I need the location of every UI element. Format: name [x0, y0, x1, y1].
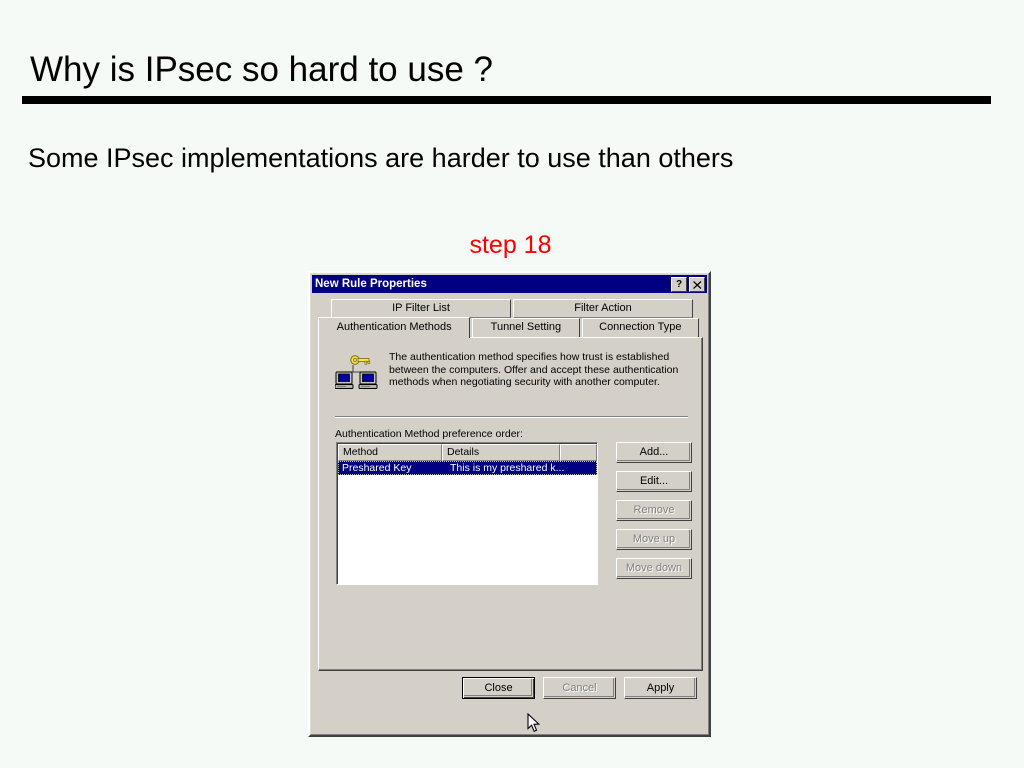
new-rule-properties-dialog: New Rule Properties ? IP Filter List Fil… — [308, 271, 711, 737]
cell-method: Preshared Key — [338, 461, 446, 475]
page-title: Why is IPsec so hard to use ? — [30, 50, 493, 90]
column-header-details[interactable]: Details — [442, 444, 560, 461]
tab-filter-action[interactable]: Filter Action — [513, 299, 693, 318]
close-button[interactable]: Close — [462, 677, 535, 699]
listview-inner: Method Details Preshared Key This is my … — [337, 443, 597, 584]
close-x-glyph — [693, 281, 702, 289]
tab-row-2: Authentication Methods Tunnel Setting Co… — [318, 318, 701, 337]
column-header-method[interactable]: Method — [338, 444, 442, 461]
separator-groove — [335, 416, 688, 418]
edit-button[interactable]: Edit... — [616, 471, 692, 492]
tab-tunnel-setting[interactable]: Tunnel Setting — [472, 318, 579, 337]
tab-strip: IP Filter List Filter Action Authenticat… — [318, 299, 701, 337]
cell-details: This is my preshared k... — [446, 461, 586, 475]
step-caption: step 18 — [0, 231, 1024, 260]
list-label: Authentication Method preference order: — [335, 428, 523, 440]
two-computers-key-icon — [335, 354, 379, 394]
add-button[interactable]: Add... — [616, 442, 692, 463]
close-icon[interactable] — [689, 277, 705, 292]
info-description-text: The authentication method specifies how … — [379, 350, 687, 394]
listview-header: Method Details — [338, 444, 597, 461]
column-header-spare[interactable] — [560, 444, 597, 461]
two-computers-key-glyph — [335, 354, 379, 394]
listview-body: Preshared Key This is my preshared k... — [338, 461, 597, 584]
tab-authentication-methods[interactable]: Authentication Methods — [318, 317, 470, 338]
step-caption-label: step 18 — [469, 231, 551, 259]
tab-panel-authentication-methods: The authentication method specifies how … — [318, 337, 703, 671]
tab-row-1: IP Filter List Filter Action — [318, 299, 701, 318]
dialog-button-bar: Close Cancel Apply — [310, 677, 709, 707]
info-block: The authentication method specifies how … — [335, 350, 687, 394]
remove-button: Remove — [616, 500, 692, 521]
slide-body-text: Some IPsec implementations are harder to… — [28, 143, 733, 174]
cancel-button: Cancel — [543, 677, 616, 699]
move-down-button: Move down — [616, 558, 692, 579]
dialog-titlebar[interactable]: New Rule Properties ? — [312, 275, 707, 293]
dialog-title: New Rule Properties — [315, 275, 669, 293]
help-icon[interactable]: ? — [671, 277, 687, 292]
table-row[interactable]: Preshared Key This is my preshared k... — [338, 461, 597, 475]
apply-button[interactable]: Apply — [624, 677, 697, 699]
move-up-button: Move up — [616, 529, 692, 550]
list-action-buttons: Add... Edit... Remove Move up Move down — [616, 442, 692, 587]
authentication-methods-list[interactable]: Method Details Preshared Key This is my … — [336, 442, 598, 585]
title-underline-rule — [22, 96, 991, 104]
tab-ip-filter-list[interactable]: IP Filter List — [331, 299, 511, 318]
tab-connection-type[interactable]: Connection Type — [582, 318, 699, 337]
